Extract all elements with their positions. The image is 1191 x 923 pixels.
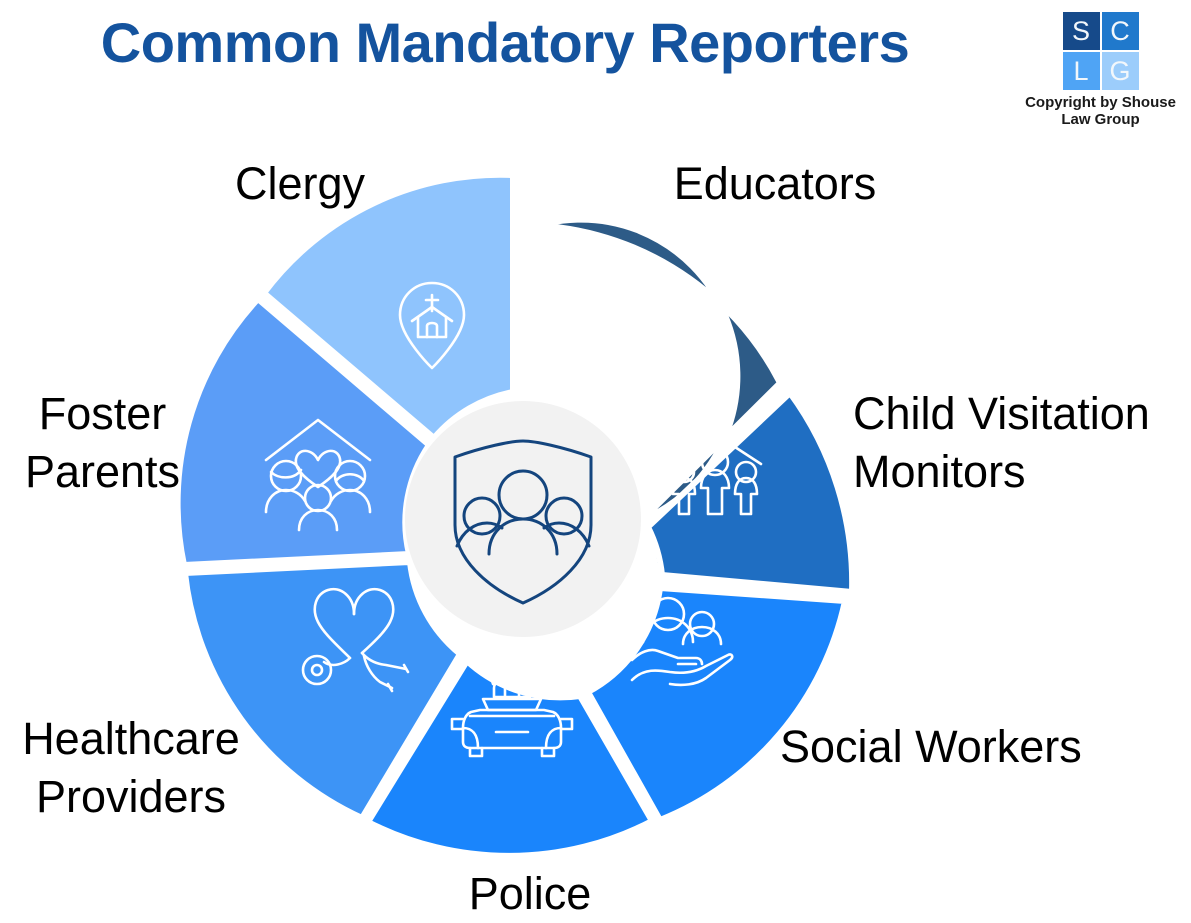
center-circle — [405, 401, 641, 637]
family-house-icon — [669, 434, 761, 514]
label-foster-parents: Foster Parents — [0, 385, 205, 500]
logo-cell-g: G — [1102, 52, 1139, 90]
segment-educators[interactable] — [520, 220, 780, 520]
logo-block: S C L G Copyright by Shouse Law Group — [1018, 12, 1183, 129]
segment-social-workers[interactable] — [588, 588, 845, 820]
segment-child-visitation-monitors-body[interactable] — [648, 393, 852, 592]
logo-cell-l: L — [1063, 52, 1100, 90]
teacher-student-icon — [564, 289, 659, 368]
page-title: Common Mandatory Reporters — [0, 10, 1010, 75]
label-educators: Educators — [590, 155, 960, 213]
segment-police[interactable] — [368, 661, 652, 856]
label-clergy: Clergy — [150, 155, 450, 213]
label-healthcare-providers: Healthcare Providers — [0, 710, 262, 825]
church-pin-icon — [400, 283, 464, 368]
segment-clergy[interactable] — [264, 175, 513, 438]
segment-child-visitation-monitors[interactable] — [651, 393, 851, 591]
label-police: Police — [330, 865, 730, 923]
shield-people-icon — [455, 441, 591, 603]
stethoscope-heart-icon — [303, 589, 408, 691]
logo-cell-c: C — [1102, 12, 1139, 50]
copyright-text: Copyright by Shouse Law Group — [1018, 95, 1183, 129]
segment-foster-parents[interactable] — [178, 299, 429, 565]
label-social-workers: Social Workers — [780, 718, 1180, 776]
people-helping-hand-icon — [632, 598, 732, 685]
sclg-logo-icon: S C L G — [1063, 12, 1139, 90]
logo-cell-s: S — [1063, 12, 1100, 50]
family-heart-house-icon — [266, 420, 370, 530]
police-car-icon — [452, 671, 572, 756]
label-child-visitation-monitors: Child Visitation Monitors — [853, 385, 1191, 500]
